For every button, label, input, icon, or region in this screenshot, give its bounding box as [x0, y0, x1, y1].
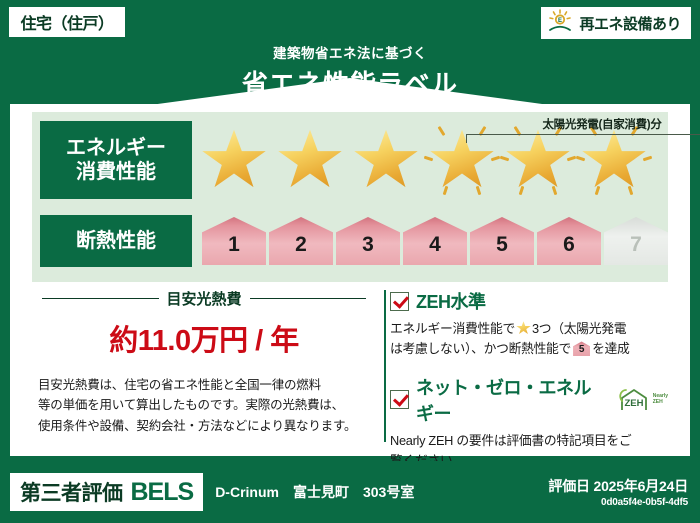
category-chip-label: 住宅（住戸） [20, 10, 113, 34]
heading-rule-right [250, 298, 367, 300]
utility-cost-note-line: 目安光熱費は、住宅の省エネ性能と全国一律の燃料 [38, 375, 370, 395]
bels-certification-badge: 第三者評価 BELS [10, 473, 203, 511]
insulation-level-number: 3 [362, 233, 374, 265]
evaluation-date: 評価日 2025年6月24日 [548, 476, 688, 496]
insulation-level-number: 5 [496, 233, 508, 265]
property-name: D-Crinum 富士見町 303号室 [215, 482, 414, 502]
house-badge-number: 5 [573, 341, 590, 356]
utility-cost-note-line: 等の単価を用いて算出したものです。実際の光熱費は、 [38, 395, 370, 415]
house-badge-inline: 5 [573, 341, 590, 356]
insulation-level-scale: 1 2 3 4 5 [192, 208, 668, 274]
bels-en-label: BELS [131, 478, 194, 507]
zeh-standard-body: エネルギー消費性能で3つ（太陽光発電 は考慮しない）、かつ断熱性能で5を達成 [390, 319, 668, 360]
utility-cost-heading: 目安光熱費 [32, 288, 376, 309]
star-item [272, 124, 348, 196]
checkmark-icon [390, 390, 409, 409]
insulation-performance-key: 断熱性能 [40, 215, 192, 267]
insulation-level-number: 7 [630, 233, 642, 265]
net-zero-energy-block: ネット・ゼロ・エネルギー ZEH Nearly ZEH [390, 374, 668, 472]
energy-performance-row: エネルギー 消費性能 太陽光発電(自家消費)分 [32, 118, 668, 202]
star-icon-inline [516, 321, 531, 335]
insulation-level-badge: 3 [336, 217, 400, 265]
header: 建築物省エネ法に基づく 省エネ性能ラベル [0, 42, 700, 101]
page-title: 省エネ性能ラベル [0, 64, 700, 101]
sparkle-ray-icon [424, 156, 433, 162]
star-item [196, 124, 272, 196]
heading-rule-left [42, 298, 159, 300]
net-zero-body-line: Nearly ZEH の要件は評価書の特記項目をご [390, 431, 668, 451]
solar-annotation-label: 太陽光発電(自家消費)分 [466, 116, 700, 132]
energy-key-line1: エネルギー [66, 136, 166, 160]
utility-cost-note: 目安光熱費は、住宅の省エネ性能と全国一律の燃料 等の単価を用いて算出したものです… [32, 375, 376, 436]
star-icon [201, 129, 267, 192]
insulation-level-badge: 4 [403, 217, 467, 265]
sparkle-ray-icon [595, 186, 601, 195]
sparkle-ray-icon [443, 186, 449, 195]
zeh-body-part3: は考慮しない）、かつ断熱性能で [390, 341, 571, 356]
solar-annotation-bracket [466, 134, 700, 143]
renewable-energy-badge: E 再エネ設備あり [540, 6, 692, 40]
zeh-body-part1: エネルギー消費性能で [390, 321, 515, 336]
sparkle-ray-icon [628, 186, 634, 195]
sparkle-ray-icon [519, 186, 525, 195]
energy-key-line2: 消費性能 [76, 160, 156, 184]
sparkle-ray-icon [500, 156, 509, 162]
insulation-level-number: 2 [295, 233, 307, 265]
footer-bar: 第三者評価 BELS D-Crinum 富士見町 303号室 評価日 2025年… [0, 461, 700, 523]
insulation-level-badge-inactive: 7 [604, 217, 668, 265]
checkmark-icon [390, 292, 409, 311]
sparkle-ray-icon [576, 156, 585, 162]
utility-cost-heading-label: 目安光熱費 [167, 288, 242, 309]
zeh-body-part4: を達成 [592, 341, 630, 356]
utility-cost-note-line: 使用条件や設備、契約会社・方法などにより異なります。 [38, 416, 370, 436]
performance-panel: エネルギー 消費性能 太陽光発電(自家消費)分 [32, 112, 668, 282]
energy-performance-key: エネルギー 消費性能 [40, 121, 192, 199]
certification-section: ZEH水準 エネルギー消費性能で3つ（太陽光発電 は考慮しない）、かつ断熱性能で… [376, 286, 668, 446]
category-chip: 住宅（住戸） [8, 6, 126, 38]
zeh-logo-sub-line2: ZEH [653, 400, 668, 406]
insulation-level-badge: 1 [202, 217, 266, 265]
sparkle-ray-icon [643, 156, 652, 162]
sparkle-ray-icon [567, 156, 576, 162]
star-icon [353, 129, 419, 192]
insulation-level-number: 1 [228, 233, 240, 265]
sparkle-ray-icon [476, 186, 482, 195]
star-rating: 太陽光発電(自家消費)分 [192, 118, 668, 202]
insulation-performance-row: 断熱性能 1 2 3 [32, 208, 668, 274]
net-zero-energy-header: ネット・ゼロ・エネルギー ZEH Nearly ZEH [390, 374, 668, 426]
label-card: エネルギー 消費性能 太陽光発電(自家消費)分 [10, 104, 690, 456]
energy-performance-label: 住宅（住戸） E 再エネ設備あり 建築物省エネ法に基づく 省エネ性能ラベル [0, 0, 700, 523]
star-icon [277, 129, 343, 192]
net-zero-energy-title: ネット・ゼロ・エネルギー [416, 374, 606, 426]
sparkle-ray-icon [438, 126, 446, 136]
sparkle-ray-icon [552, 186, 558, 195]
solar-sun-icon: E [547, 9, 573, 38]
insulation-level-badge: 5 [470, 217, 534, 265]
renewable-badge-label: 再エネ設備あり [579, 13, 681, 34]
sparkle-ray-icon [491, 156, 500, 162]
svg-text:ZEH: ZEH [624, 398, 643, 409]
zeh-logo: ZEH Nearly ZEH [617, 387, 668, 413]
svg-text:E: E [558, 18, 562, 24]
insulation-level-badge: 2 [269, 217, 333, 265]
bels-jp-label: 第三者評価 [20, 477, 123, 507]
zeh-standard-title: ZEH水準 [416, 288, 486, 314]
zeh-body-part2: 3つ（太陽光発電 [532, 321, 626, 336]
utility-cost-value: 約11.0万円 / 年 [32, 317, 376, 359]
insulation-level-number: 6 [563, 233, 575, 265]
star-item [348, 124, 424, 196]
header-subtitle: 建築物省エネ法に基づく [0, 42, 700, 62]
evaluation-id: 0d0a5f4e-0b5f-4df5 [548, 497, 688, 508]
insulation-level-number: 4 [429, 233, 441, 265]
insulation-level-badge: 6 [537, 217, 601, 265]
zeh-standard-header: ZEH水準 [390, 288, 668, 314]
evaluation-info: 評価日 2025年6月24日 0d0a5f4e-0b5f-4df5 [548, 476, 688, 508]
lower-section: 目安光熱費 約11.0万円 / 年 目安光熱費は、住宅の省エネ性能と全国一律の燃… [32, 286, 668, 446]
solar-annotation: 太陽光発電(自家消費)分 [466, 116, 700, 143]
insulation-key-label: 断熱性能 [76, 229, 156, 253]
utility-cost-section: 目安光熱費 約11.0万円 / 年 目安光熱費は、住宅の省エネ性能と全国一律の燃… [32, 286, 376, 446]
zeh-standard-block: ZEH水準 エネルギー消費性能で3つ（太陽光発電 は考慮しない）、かつ断熱性能で… [390, 288, 668, 360]
